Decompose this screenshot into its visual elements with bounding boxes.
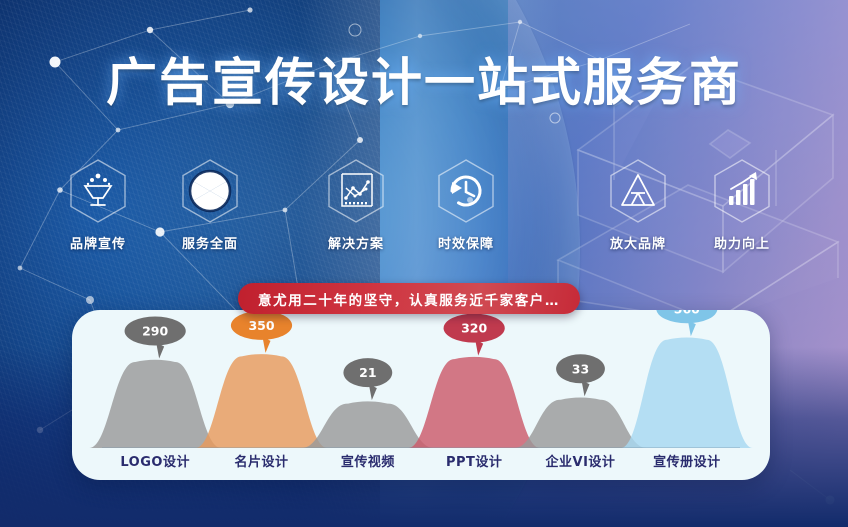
feature-item-timeliness[interactable]: 时效保障: [420, 158, 512, 252]
clock-rotate-icon: [435, 158, 497, 224]
chart-category-labels: LOGO设计名片设计宣传视频PPT设计企业VI设计宣传册设计: [72, 451, 770, 473]
chart-value-bubble: 33: [556, 354, 605, 396]
feature-item-brand[interactable]: 品牌宣传: [52, 158, 144, 252]
chart-value-text: 350: [248, 318, 274, 333]
chart-hill: [621, 338, 753, 448]
chart-value-bubble: 560: [656, 310, 717, 336]
aperture-icon: [179, 158, 241, 224]
chart-value-text: 290: [142, 323, 168, 338]
feature-item-growth[interactable]: 助力向上: [696, 158, 788, 252]
feature-item-service[interactable]: 服务全面: [164, 158, 256, 252]
tagline-text: 意尤用二十年的坚守，认真服务近千家客户…: [258, 289, 560, 309]
feature-label: 时效保障: [420, 233, 512, 252]
feature-label: 助力向上: [696, 233, 788, 252]
chart-value-text: 320: [461, 321, 487, 336]
pyramid-icon: [607, 158, 669, 224]
bar-growth-icon: [711, 158, 773, 224]
feature-item-amplify[interactable]: 放大品牌: [592, 158, 684, 252]
chart-category-label: 宣传视频: [315, 451, 421, 470]
chart-baseline: [102, 447, 740, 448]
feature-label: 解决方案: [310, 233, 402, 252]
page-title: 广告宣传设计一站式服务商: [0, 58, 848, 109]
chart-card: 2903502132033560 LOGO设计名片设计宣传视频PPT设计企业VI…: [72, 310, 770, 480]
chart-value-bubble: 350: [231, 311, 292, 353]
chart-hill: [196, 354, 328, 448]
chart-category-label: LOGO设计: [102, 451, 208, 470]
tagline-banner: 意尤用二十年的坚守，认真服务近千家客户…: [238, 283, 580, 314]
chart-value-text: 33: [572, 361, 589, 376]
chart-value-text: 21: [359, 365, 376, 380]
chart-category-label: 宣传册设计: [634, 451, 740, 470]
chart-category-label: PPT设计: [421, 451, 527, 470]
feature-label: 服务全面: [164, 233, 256, 252]
chart-category-label: 企业VI设计: [527, 451, 633, 470]
feature-icon-row: 品牌宣传 服务全面: [0, 158, 848, 254]
poster-canvas: 广告宣传设计一站式服务商: [0, 0, 848, 527]
chart-value-bubble: 290: [125, 316, 186, 358]
chart-value-text: 560: [674, 310, 700, 316]
feature-item-solution[interactable]: 解决方案: [310, 158, 402, 252]
megaphone-icon: [67, 158, 129, 224]
line-chart-icon: [325, 158, 387, 224]
chart-category-label: 名片设计: [208, 451, 314, 470]
chart-hill: [302, 401, 434, 448]
chart-hill: [515, 398, 647, 448]
feature-label: 放大品牌: [592, 233, 684, 252]
feature-label: 品牌宣传: [52, 233, 144, 252]
chart-hill: [89, 360, 221, 448]
chart-value-bubble: 21: [343, 358, 392, 400]
chart-value-bubble: 320: [444, 314, 505, 356]
chart-hill: [408, 357, 540, 448]
